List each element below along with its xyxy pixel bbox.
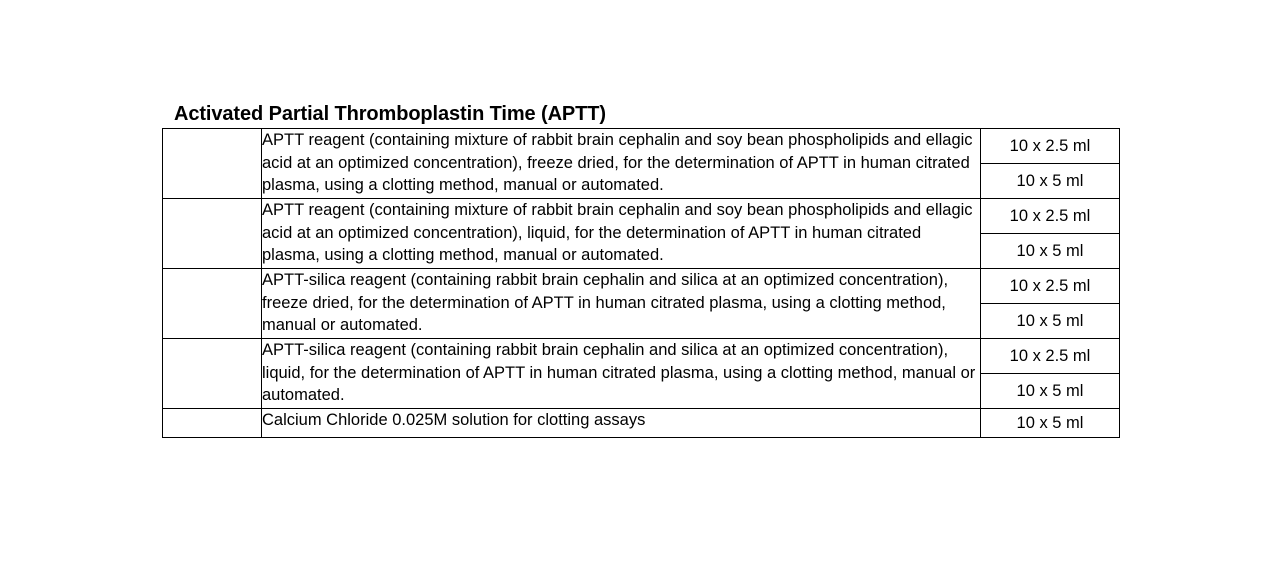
pack-size-option: 10 x 2.5 ml [981, 129, 1119, 163]
pack-size-stack: 10 x 2.5 ml 10 x 5 ml [981, 339, 1119, 408]
aptt-section: Activated Partial Thromboplastin Time (A… [162, 102, 1119, 438]
pack-size-cell: 10 x 2.5 ml 10 x 5 ml [981, 129, 1120, 199]
table-row: Calcium Chloride 0.025M solution for clo… [163, 409, 1120, 438]
product-description: APTT reagent (containing mixture of rabb… [262, 199, 981, 269]
product-description: APTT-silica reagent (containing rabbit b… [262, 269, 981, 339]
pack-size-option: 10 x 2.5 ml [981, 269, 1119, 303]
pack-size-option: 10 x 2.5 ml [981, 199, 1119, 233]
product-description: Calcium Chloride 0.025M solution for clo… [262, 409, 981, 438]
table-row: APTT reagent (containing mixture of rabb… [163, 199, 1120, 269]
pack-size-stack: 10 x 2.5 ml 10 x 5 ml [981, 269, 1119, 338]
page-title: Activated Partial Thromboplastin Time (A… [174, 102, 1119, 126]
document-page: Activated Partial Thromboplastin Time (A… [0, 0, 1284, 588]
product-code-cell [163, 129, 262, 199]
product-code-cell [163, 269, 262, 339]
product-code-cell [163, 199, 262, 269]
pack-size-cell: 10 x 2.5 ml 10 x 5 ml [981, 269, 1120, 339]
pack-size-option: 10 x 5 ml [981, 163, 1119, 198]
pack-size-option: 10 x 5 ml [981, 373, 1119, 408]
product-code-cell [163, 339, 262, 409]
pack-size-option: 10 x 5 ml [981, 233, 1119, 268]
pack-size-option: 10 x 5 ml [981, 409, 1119, 437]
pack-size-cell: 10 x 2.5 ml 10 x 5 ml [981, 339, 1120, 409]
table-row: APTT reagent (containing mixture of rabb… [163, 129, 1120, 199]
pack-size-option: 10 x 2.5 ml [981, 339, 1119, 373]
product-table-body: APTT reagent (containing mixture of rabb… [163, 129, 1120, 438]
pack-size-cell: 10 x 5 ml [981, 409, 1120, 438]
product-table: APTT reagent (containing mixture of rabb… [162, 128, 1120, 438]
table-row: APTT-silica reagent (containing rabbit b… [163, 339, 1120, 409]
pack-size-option: 10 x 5 ml [981, 303, 1119, 338]
table-row: APTT-silica reagent (containing rabbit b… [163, 269, 1120, 339]
product-description: APTT-silica reagent (containing rabbit b… [262, 339, 981, 409]
product-code-cell [163, 409, 262, 438]
pack-size-stack: 10 x 2.5 ml 10 x 5 ml [981, 129, 1119, 198]
pack-size-cell: 10 x 2.5 ml 10 x 5 ml [981, 199, 1120, 269]
product-description: APTT reagent (containing mixture of rabb… [262, 129, 981, 199]
pack-size-stack: 10 x 2.5 ml 10 x 5 ml [981, 199, 1119, 268]
